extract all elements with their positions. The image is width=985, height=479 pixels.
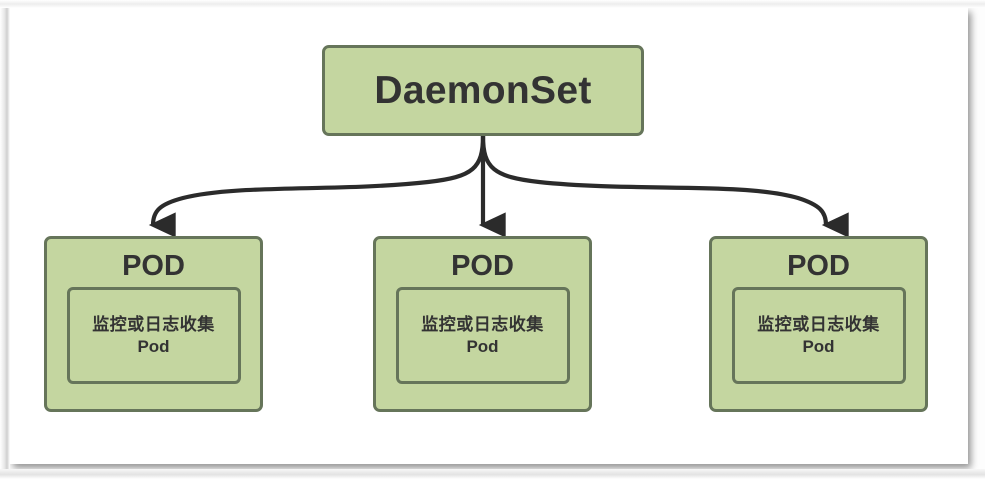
- pod-inner-container-2[interactable]: 监控或日志收集 Pod: [396, 287, 570, 384]
- daemonset-node[interactable]: DaemonSet: [322, 45, 644, 136]
- pod-inner-label-primary: 监控或日志收集: [757, 314, 880, 335]
- pod-inner-label-primary: 监控或日志收集: [92, 314, 215, 335]
- page-edge-bottom: [0, 469, 985, 479]
- page-edge-top: [0, 0, 985, 8]
- pod-inner-label-secondary: Pod: [466, 336, 498, 358]
- connector-daemonset-to-pod-3: [483, 136, 826, 225]
- pod-inner-label-primary: 监控或日志收集: [421, 314, 544, 335]
- pod-node-2[interactable]: POD 监控或日志收集 Pod: [373, 236, 592, 412]
- screenshot-frame: DaemonSet POD 监控或日志收集 Pod POD 监控或日志收集 Po…: [0, 0, 985, 479]
- pod-title: POD: [122, 251, 185, 281]
- pod-inner-container-3[interactable]: 监控或日志收集 Pod: [732, 287, 906, 384]
- pod-inner-label-secondary: Pod: [802, 336, 834, 358]
- diagram-canvas: DaemonSet POD 监控或日志收集 Pod POD 监控或日志收集 Po…: [8, 6, 968, 464]
- pod-node-1[interactable]: POD 监控或日志收集 Pod: [44, 236, 263, 412]
- page-edge-left: [0, 0, 10, 479]
- daemonset-label: DaemonSet: [374, 71, 591, 110]
- pod-node-3[interactable]: POD 监控或日志收集 Pod: [709, 236, 928, 412]
- pod-title: POD: [787, 251, 850, 281]
- connector-daemonset-to-pod-1: [153, 136, 483, 225]
- pod-inner-label-secondary: Pod: [137, 336, 169, 358]
- pod-inner-container-1[interactable]: 监控或日志收集 Pod: [67, 287, 241, 384]
- pod-title: POD: [451, 251, 514, 281]
